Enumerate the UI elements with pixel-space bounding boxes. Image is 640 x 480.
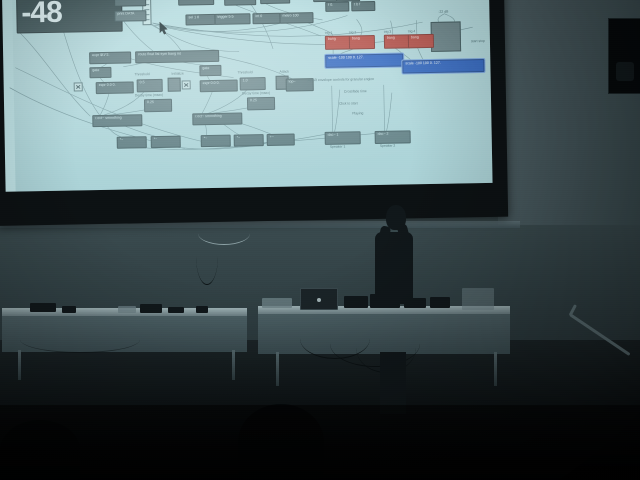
foreground-shadow (0, 405, 640, 480)
projection-screen-frame: -48 scale 0. 1.print DATArou (0, 0, 508, 226)
patch-dac-2[interactable]: dac~ 2 (375, 130, 411, 144)
initialize-bang[interactable] (168, 78, 181, 92)
left-gear-4 (140, 304, 162, 313)
patch-red-label-1: trig 1 (325, 31, 333, 35)
patch-label-12: Click to start (339, 101, 358, 105)
patch-message-red-1[interactable]: bang (325, 35, 351, 49)
left-gear-6 (196, 306, 208, 313)
patch-label-1: Threshold (134, 72, 149, 76)
wall-mounted-speaker (608, 18, 640, 94)
hanging-cable-2 (196, 228, 218, 285)
patch-label-2: Initialize (171, 72, 183, 76)
patch-label-5: Decay time (msec) (135, 93, 163, 98)
left-gear-3 (118, 306, 136, 313)
patch-object-m15[interactable]: *~ (201, 135, 231, 148)
patch-object-m7[interactable]: 0.5 (137, 79, 163, 92)
patch-object-m6[interactable]: expr 0.0 0. (200, 80, 238, 93)
patch-object-m16[interactable]: *~ (234, 134, 264, 147)
right-table-leg-1 (276, 352, 279, 386)
patch-object-m2[interactable]: route float list sym bang int (135, 50, 219, 64)
right-gear-1 (344, 296, 368, 308)
right-table-leg-2 (494, 352, 497, 386)
patch-message-red-2[interactable]: bang (349, 35, 375, 49)
cable-4 (20, 326, 140, 353)
left-gear-1 (30, 303, 56, 312)
lecture-hall-scene: -48 scale 0. 1.print DATArou (0, 0, 640, 480)
patch-label-13: Playing (352, 111, 363, 115)
left-table-leg-2 (232, 350, 235, 380)
patch-object-m9[interactable]: 0.25 (144, 99, 172, 113)
left-gear-2 (62, 306, 76, 313)
projection-screen-surface[interactable]: -48 scale 0. 1.print DATArou (2, 0, 493, 192)
patch-object-o12[interactable]: f 0. (325, 1, 349, 11)
patch-object-m5[interactable]: expr 0.0 0. (96, 81, 134, 94)
patch-label-10: Speaker 2 (380, 144, 396, 148)
right-gear-monitor (462, 288, 494, 310)
patch-red-label-4: trig 4 (408, 29, 416, 33)
patch-red-label-2: trig 2 (349, 30, 357, 34)
left-table-leg-1 (18, 350, 21, 380)
patch-object-m14[interactable]: *~ (151, 136, 181, 149)
patch-object-m11[interactable]: r.oct~ smoothing (92, 114, 142, 127)
patch-object-o13[interactable]: t b f (351, 1, 375, 11)
laptop-on-table[interactable] (300, 288, 338, 310)
patch-object-o5[interactable]: loadbang (260, 0, 290, 4)
patch-object-selected-2[interactable]: scale -100 100 0. 127. (402, 59, 484, 74)
patch-red-label-3: trig 3 (384, 30, 392, 34)
patch-label-6: Decay time (msec) (242, 91, 270, 96)
laptop-logo-icon (317, 298, 321, 302)
scope-display[interactable] (431, 21, 462, 52)
patch-object-m17[interactable]: +~ (267, 133, 295, 146)
patch-label-7: -22 dB (438, 10, 448, 14)
left-gear-5 (168, 307, 184, 313)
right-gear-4 (430, 297, 450, 308)
patch-object-m4[interactable]: gate (199, 65, 221, 76)
patch-object-o2[interactable]: print DATA (114, 10, 146, 22)
patch-object-o8[interactable]: sel 1 0 (185, 14, 215, 26)
patch-object-o3[interactable]: route 1 2 (114, 0, 146, 7)
patch-label-11: Crossfade time (344, 89, 367, 93)
patch-object-m13[interactable]: *~ (117, 136, 147, 149)
patch-object-o1[interactable]: scale 0. 1. (178, 0, 214, 6)
right-gear-mixer (262, 298, 292, 308)
patch-label-9: Speaker 1 (330, 145, 346, 149)
patch-object-m10[interactable]: 0.25 (247, 97, 275, 111)
patch-object-selected-1[interactable]: scale -100 100 0. 127. (325, 53, 403, 67)
patch-object-m12[interactable]: r.oct~ smoothing (192, 112, 242, 125)
patch-label-8: start stop (471, 39, 485, 43)
patch-label-3: Threshold (237, 70, 252, 74)
patch-object-o9[interactable]: trigger b b (214, 13, 250, 25)
patch-label-14: ADSR envelope controls for granular engi… (308, 77, 374, 82)
patch-dac-1[interactable]: dac~ 1 (325, 131, 361, 145)
patch-object-o11[interactable]: metro 100 (279, 12, 313, 24)
arrow-cursor (160, 22, 169, 35)
patch-message-red-3[interactable]: bang (384, 34, 410, 48)
max-msp-patch[interactable]: -48 scale 0. 1.print DATArou (2, 0, 493, 192)
speaker-cone-icon (616, 62, 634, 81)
toggle-right[interactable] (182, 80, 191, 89)
patch-message-red-4[interactable]: bang (408, 34, 434, 48)
patch-object-m3[interactable]: gate (89, 67, 111, 78)
patch-object-o10[interactable]: int 0 (252, 13, 280, 25)
big-number-display[interactable]: -48 (16, 0, 123, 34)
patch-object-m8[interactable]: 1.0 (240, 77, 266, 90)
patch-object-o4[interactable]: unpack f f (224, 0, 256, 6)
patch-label-4: Attack (279, 70, 289, 74)
patch-object-m1[interactable]: expr $f1*2. (89, 51, 131, 64)
toggle-left[interactable] (74, 82, 83, 91)
presenter-held-device (387, 214, 401, 224)
